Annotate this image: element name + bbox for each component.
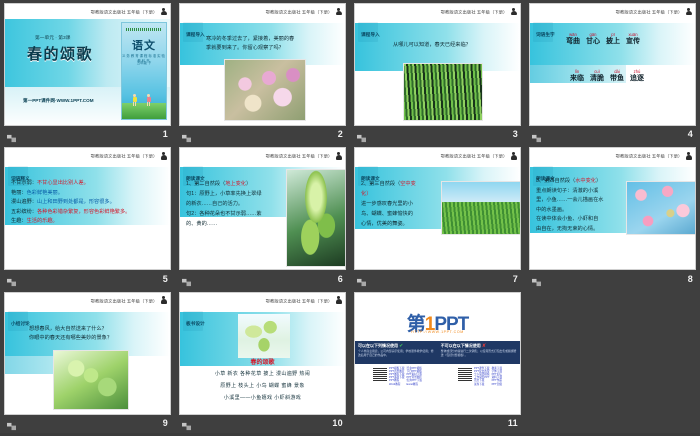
section-tag: 课程导入: [183, 22, 203, 42]
publisher-label: 鄂教版语文出版社 五年级（下册）: [265, 8, 332, 14]
slide-body: 朗读课文 2、第三自然段（空中变 化） 进一步感叹春光里的小 鸟、蝴蝶、蜜蜂愉快…: [355, 163, 520, 269]
term: 漫山遍野：: [11, 199, 37, 205]
text-heading: 1、第二自然段（地上变化）: [186, 179, 286, 189]
definition-row: 不甘示弱：不甘心显出比别人差。: [11, 179, 171, 189]
slide-3[interactable]: 鄂教版语文出版社 五年级（下册） 课程导入 从哪儿可以知道，春天已经来临？: [354, 3, 521, 126]
word-label: 宣传: [626, 37, 640, 46]
slide-text: 3、第四自然段（水中变化） 重点朗读句子：清澈的小溪 里，小鱼……一会儿描画在水…: [536, 177, 628, 234]
publisher-label: 鄂教版语文出版社 五年级（下册）: [265, 297, 332, 303]
slide-cell-11[interactable]: 第1PPT HTTP://WWW.1PPT.COM 可以在以下列情况使用 ✔ 个…: [350, 289, 525, 433]
slide-body: 词语生字 wān 弯曲 gān 甘心 pī 披上 xuān: [530, 19, 695, 125]
link-item[interactable]: 试卷下载: [474, 383, 490, 386]
slide-footer: 10: [179, 415, 346, 431]
slide-8[interactable]: 鄂教版语文出版社 五年级（下册） 朗读课文 3、第四自然段（水中变化） 重点朗读…: [529, 147, 696, 270]
section-tag-label: 板书设计: [186, 321, 205, 328]
slide-grid: 鄂教版语文出版社 五年级（下册） 第一单元 · 第3课 春的颂歌 第一PPT课件…: [0, 0, 700, 433]
links-block: PPT课件下载 PPT论文答辩 个人简历模板 工作总结PPT 范文下载 试卷下载…: [458, 367, 502, 386]
kid-figure-icon: [146, 94, 151, 106]
board-line: 原野上 枝头上 小鸟 蝴蝶 蜜蜂 景象: [180, 382, 345, 389]
text-heading: 2、第三自然段（空中变: [361, 179, 439, 189]
slide-footer: 5: [4, 271, 171, 287]
person-icon: [335, 8, 342, 16]
link-list[interactable]: PPT模板下载 PPT背景图片 PPT图表下载 PPT素材下载 PPT教程 Wo…: [389, 367, 404, 386]
text-line: 由自在，无拘无束的心情。: [536, 225, 628, 235]
heading-pre: 3、第四自然段（: [536, 178, 575, 184]
text-line: 季就要到来了。你留心观察了吗？: [206, 44, 341, 53]
cross-icon: ✘: [482, 343, 486, 349]
butterfly-grass-photo: [441, 181, 521, 235]
brand-url: HTTP://WWW.1PPT.COM: [355, 330, 520, 334]
section-tag: 小组讨论: [8, 311, 28, 331]
text-line: 在读中体会小鱼、小虾和自: [536, 215, 628, 225]
slide-header: 鄂教版语文出版社 五年级（下册）: [5, 4, 170, 19]
qr-code-icon: [458, 367, 472, 381]
slide-cell-6[interactable]: 鄂教版语文出版社 五年级（下册） 朗读课文 1、第二自然段（地上变化） 句1：原…: [175, 144, 350, 288]
pinyin-word-cell: lín 来临: [570, 69, 584, 83]
text-heading: 3、第四自然段（水中变化）: [536, 177, 628, 187]
section-tag-label: 词语生字: [536, 32, 555, 39]
heading-post: 化）: [361, 191, 371, 197]
hand-sprout-photo: [53, 350, 129, 410]
page-number: 5: [163, 274, 168, 284]
slide-thumb-icon: [532, 274, 541, 283]
word-label: 披上: [606, 37, 620, 46]
slide-header: 鄂教版语文出版社 五年级（下册）: [530, 4, 695, 19]
text-line: 句1：原野上，小草率先换上翠绿: [186, 189, 286, 199]
text-line: 里，小鱼……一会儿描画在水: [536, 196, 628, 206]
pinyin-word-cell: dài 带鱼: [610, 69, 624, 83]
pinyin-word-cell: wān 弯曲: [566, 32, 580, 46]
textbook-cover-image: 语文 义务教育课程标准实验教科书 五年级 下: [121, 22, 167, 120]
word-label: 弯曲: [566, 37, 580, 46]
page-number: 4: [688, 129, 693, 139]
disallowed-heading: 不可以在以下情况使用 ✘: [441, 343, 517, 349]
publisher-label: 鄂教版语文出版社 五年级（下册）: [440, 8, 507, 14]
definition: 不甘心显出比别人差。: [37, 180, 89, 186]
link-list[interactable]: 教案下载 字体下载 PPT论坛 资料下载 PPT作品 PPT宝藏: [492, 367, 502, 386]
book-subtitle-2: 五年级 下: [122, 60, 166, 65]
disallowed-usage-column: 不可以在以下情况使用 ✘ 整体或部分内容进行二次销售；以任何形式打包出售或捆绑赠…: [441, 343, 517, 358]
slide-text: 想想春风，给大自然送来了什么？ 你眼中的春天还有哪些美妙的景象？: [29, 325, 169, 343]
slide-thumb-icon: [7, 130, 16, 139]
slide-header: 鄂教版语文出版社 五年级（下册）: [180, 293, 345, 308]
slide-header: 鄂教版语文出版社 五年级（下册）: [180, 148, 345, 163]
definition: 各种色彩错杂繁复，形容色彩鲜艳繁多。: [37, 209, 130, 215]
slide-footer: 6: [179, 271, 346, 287]
person-icon: [335, 296, 342, 304]
person-icon: [160, 8, 167, 16]
slide-text: 1、第二自然段（地上变化） 句1：原野上，小草率先换上翠绿 的新衣……自己的活力…: [186, 179, 286, 229]
text-line: 中的水墨画。: [536, 206, 628, 216]
slide-thumb-icon: [357, 130, 366, 139]
slide-subtitle: 第一单元 · 第3课: [35, 35, 70, 41]
word-label: 清脆: [590, 74, 604, 83]
bud-photo: [286, 169, 346, 267]
allowed-heading: 可以在以下列情况使用 ✔: [358, 343, 434, 349]
slide-7[interactable]: 鄂教版语文出版社 五年级（下册） 朗读课文 2、第三自然段（空中变 化） 进一步…: [354, 147, 521, 270]
slide-cell-7[interactable]: 鄂教版语文出版社 五年级（下册） 朗读课文 2、第三自然段（空中变 化） 进一步…: [350, 144, 525, 288]
slide-cell-2[interactable]: 鄂教版语文出版社 五年级（下册） 课程导入 寒冷的冬季过去了，紧接着，美丽的春 …: [175, 0, 350, 144]
pinyin-word-cell: zhú 追逐: [630, 69, 644, 83]
publisher-label: 鄂教版语文出版社 五年级（下册）: [615, 8, 682, 14]
board-line: 小草 新衣 各种花草 披上 漫山遍野 热闹: [180, 370, 345, 377]
definition-list: 不甘示弱：不甘心显出比别人差。 艳丽：色彩鲜艳美丽。 漫山遍野：山上和田野到处都…: [11, 179, 171, 227]
links-area: PPT模板下载 PPT背景图片 PPT图表下载 PPT素材下载 PPT教程 Wo…: [355, 367, 520, 386]
heading-pre: 1、第二自然段（: [186, 181, 225, 187]
allowed-body: 个人非商业用途，公司内部演示使用；学校课件教学使用；修改后用于自己的作品中。: [358, 350, 434, 357]
term: 生趣：: [11, 218, 27, 224]
definition: 生活的乐趣。: [27, 218, 58, 224]
slide-footer: 3: [354, 126, 521, 142]
term: 不甘示弱：: [11, 180, 37, 186]
sprout-photo: [403, 63, 483, 121]
page-number: 11: [508, 418, 518, 428]
page-number: 8: [688, 274, 693, 284]
term: 五彩缤纷：: [11, 209, 37, 215]
link-item[interactable]: PPT宝藏: [492, 383, 502, 386]
text-line: 的新衣……自己的活力。: [186, 199, 286, 209]
definition-row: 生趣：生活的乐趣。: [11, 217, 171, 227]
publisher-label: 鄂教版语文出版社 五年级（下册）: [440, 153, 507, 159]
disallowed-body: 整体或部分内容进行二次销售；以任何形式打包出售或捆绑赠送（包括付费模板）。: [441, 350, 517, 357]
person-icon: [685, 152, 692, 160]
word-label: 带鱼: [610, 74, 624, 83]
links-block: PPT模板下载 PPT背景图片 PPT图表下载 PPT素材下载 PPT教程 Wo…: [373, 367, 422, 386]
page-number: 10: [332, 418, 343, 428]
person-icon: [685, 8, 692, 16]
slide-thumb-icon: [357, 274, 366, 283]
slide-body: 朗读课文 1、第二自然段（地上变化） 句1：原野上，小草率先换上翠绿 的新衣………: [180, 163, 345, 269]
slide-header: 鄂教版语文出版社 五年级（下册）: [5, 293, 170, 308]
text-line: 进一步感叹春光里的小: [361, 199, 439, 209]
heading-post: ）: [596, 178, 601, 184]
page-number: 2: [338, 129, 343, 139]
slide-cell-1[interactable]: 鄂教版语文出版社 五年级（下册） 第一单元 · 第3课 春的颂歌 第一PPT课件…: [0, 0, 175, 144]
definition: 色彩鲜艳美丽。: [27, 190, 63, 196]
slide-header: 鄂教版语文出版社 五年级（下册）: [530, 148, 695, 163]
section-tag-label: 课程导入: [361, 32, 380, 39]
slide-cell-5[interactable]: 鄂教版语文出版社 五年级（下册） 词语释义 不甘示弱：不甘心显出比别人差。 艳丽…: [0, 144, 175, 288]
text-line: 重点朗读句子：清澈的小溪: [536, 187, 628, 197]
text-line: 的、黄的……: [186, 219, 286, 229]
heading-highlight: 水中变化: [575, 178, 596, 184]
slide-footer: 4: [529, 126, 696, 142]
slide-cell-4[interactable]: 鄂教版语文出版社 五年级（下册） 词语生字 wān 弯曲 gān 甘心: [525, 0, 700, 144]
definition-row: 五彩缤纷：各种色彩错杂繁复，形容色彩鲜艳繁多。: [11, 208, 171, 218]
section-tag: 板书设计: [183, 311, 203, 331]
board-line: 小溪里——小鱼嬉戏 小虾斜游戏: [180, 394, 345, 401]
publisher-label: 鄂教版语文出版社 五年级（下册）: [615, 153, 682, 159]
check-icon: ✔: [399, 343, 403, 349]
book-title: 语文: [122, 37, 166, 53]
site-credit: 第一PPT课件网·WWW.1PPT.COM: [23, 98, 94, 105]
text-line: 心情，优美的舞姿。: [361, 219, 439, 229]
slide-thumb-icon: [182, 274, 191, 283]
slide-6[interactable]: 鄂教版语文出版社 五年级（下册） 朗读课文 1、第二自然段（地上变化） 句1：原…: [179, 147, 346, 270]
slide-thumb-icon: [7, 418, 16, 427]
pinyin-word-cell: cuì 清脆: [590, 69, 604, 83]
slide-thumb-icon: [357, 418, 366, 427]
link-list[interactable]: 行业PPT模板 节日PPT模板 PPT素材下载 PPT背景图片 优秀PPT下载 …: [406, 367, 421, 386]
allowed-usage-column: 可以在以下列情况使用 ✔ 个人非商业用途，公司内部演示使用；学校课件教学使用；修…: [358, 343, 434, 358]
person-icon: [160, 152, 167, 160]
definition: 山上和田野到处都是，形容很多。: [37, 199, 115, 205]
slide-header: 鄂教版语文出版社 五年级（下册）: [5, 148, 170, 163]
slide-text: 从哪儿可以知道，春天已经来临？: [393, 41, 518, 50]
slide-body: 小组讨论 想想春风，给大自然送来了什么？ 你眼中的春天还有哪些美妙的景象？: [5, 308, 170, 414]
book-grass-art: [122, 103, 166, 119]
section-tag-label: 课程导入: [186, 32, 205, 39]
kid-figure-icon: [132, 94, 137, 106]
link-item[interactable]: Word教程: [389, 383, 404, 386]
page-number: 6: [338, 274, 343, 284]
person-icon: [510, 8, 517, 16]
slide-footer: 8: [529, 271, 696, 287]
slide-footer: 9: [4, 415, 171, 431]
slide-header: 鄂教版语文出版社 五年级（下册）: [355, 4, 520, 19]
text-line: 你眼中的春天还有哪些美妙的景象？: [29, 334, 169, 343]
slide-footer: 1: [4, 126, 171, 142]
text-line: 从哪儿可以知道，春天已经来临？: [393, 41, 518, 50]
qr-code-icon: [373, 367, 387, 381]
slide-thumb-icon: [532, 130, 541, 139]
pinyin-word-cell: pī 披上: [606, 32, 620, 46]
person-icon: [160, 296, 167, 304]
definition-row: 漫山遍野：山上和田野到处都是，形容很多。: [11, 198, 171, 208]
slide-body: 板书设计 春的颂歌 小草 新衣 各种花草 披上 漫山遍野 热闹 原野上 枝头上 …: [180, 308, 345, 414]
text-line: 寒冷的冬季过去了，紧接着，美丽的春: [206, 35, 341, 44]
slide-1[interactable]: 鄂教版语文出版社 五年级（下册） 第一单元 · 第3课 春的颂歌 第一PPT课件…: [4, 3, 171, 126]
slide-cell-9[interactable]: 鄂教版语文出版社 五年级（下册） 小组讨论 想想春风，给大自然送来了什么？ 你眼…: [0, 289, 175, 433]
definition-row: 艳丽：色彩鲜艳美丽。: [11, 189, 171, 199]
slide-thumb-icon: [7, 274, 16, 283]
slide-body: 课程导入 寒冷的冬季过去了，紧接着，美丽的春 季就要到来了。你留心观察了吗？: [180, 19, 345, 125]
page-number: 1: [163, 129, 168, 139]
slide-cell-empty: [525, 289, 700, 433]
slide-text: 2、第三自然段（空中变 化） 进一步感叹春光里的小 鸟、蝴蝶、蜜蜂愉快的 心情，…: [361, 179, 439, 229]
page-number: 9: [163, 418, 168, 428]
branch-leaves-photo: [238, 314, 290, 358]
term: 艳丽：: [11, 190, 27, 196]
text-line: 句2：各种花朵也不甘示弱……紫: [186, 209, 286, 219]
slide-header: 鄂教版语文出版社 五年级（下册）: [355, 148, 520, 163]
text-heading-cont: 化）: [361, 189, 439, 199]
pinyin-word-cell: gān 甘心: [586, 32, 600, 46]
text-line: 鸟、蝴蝶、蜜蜂愉快的: [361, 209, 439, 219]
page-number: 7: [513, 274, 518, 284]
slide-5[interactable]: 鄂教版语文出版社 五年级（下册） 词语释义 不甘示弱：不甘心显出比别人差。 艳丽…: [4, 147, 171, 270]
slide-body: 词语释义 不甘示弱：不甘心显出比别人差。 艳丽：色彩鲜艳美丽。 漫山遍野：山上和…: [5, 163, 170, 269]
link-item[interactable]: Excel教程: [406, 383, 421, 386]
word-label: 来临: [570, 74, 584, 83]
slide-4[interactable]: 鄂教版语文出版社 五年级（下册） 词语生字 wān 弯曲 gān 甘心: [529, 3, 696, 126]
slide-footer: 11: [354, 415, 521, 431]
slide-cell-10[interactable]: 鄂教版语文出版社 五年级（下册） 板书设计 春的颂歌 小草 新衣 各种花草 披上…: [175, 289, 350, 433]
text-line: 想想春风，给大自然送来了什么？: [29, 325, 169, 334]
pinyin-word-cell: xuān 宣传: [626, 32, 640, 46]
slide-thumb-icon: [182, 130, 191, 139]
heading-pre: 2、第三自然段（: [361, 181, 400, 187]
publisher-label: 鄂教版语文出版社 五年级（下册）: [90, 297, 157, 303]
slide-cell-8[interactable]: 鄂教版语文出版社 五年级（下册） 朗读课文 3、第四自然段（水中变化） 重点朗读…: [525, 144, 700, 288]
publisher-label: 鄂教版语文出版社 五年级（下册）: [90, 8, 157, 14]
slide-body: 朗读课文 3、第四自然段（水中变化） 重点朗读句子：清澈的小溪 里，小鱼……一会…: [530, 163, 695, 269]
slide-header: 鄂教版语文出版社 五年级（下册）: [180, 4, 345, 19]
slide-9[interactable]: 鄂教版语文出版社 五年级（下册） 小组讨论 想想春风，给大自然送来了什么？ 你眼…: [4, 292, 171, 415]
slide-cell-3[interactable]: 鄂教版语文出版社 五年级（下册） 课程导入 从哪儿可以知道，春天已经来临？ 3: [350, 0, 525, 144]
person-icon: [335, 152, 342, 160]
link-list[interactable]: PPT课件下载 PPT论文答辩 个人简历模板 工作总结PPT 范文下载 试卷下载: [474, 367, 490, 386]
section-tag: 词语生字: [533, 22, 553, 42]
heading-post: ）: [246, 181, 251, 187]
slide-text: 寒冷的冬季过去了，紧接着，美丽的春 季就要到来了。你留心观察了吗？: [206, 35, 341, 53]
slide-10[interactable]: 鄂教版语文出版社 五年级（下册） 板书设计 春的颂歌 小草 新衣 各种花草 披上…: [179, 292, 346, 415]
slide-footer: 7: [354, 271, 521, 287]
page-title: 春的颂歌: [27, 43, 93, 64]
pinyin-row-1: wān 弯曲 gān 甘心 pī 披上 xuān 宣传: [566, 32, 640, 46]
slide-body: 课程导入 从哪儿可以知道，春天已经来临？: [355, 19, 520, 125]
section-tag-label: 小组讨论: [11, 321, 30, 328]
person-icon: [510, 152, 517, 160]
word-label: 追逐: [630, 74, 644, 83]
slide-body: 第1PPT HTTP://WWW.1PPT.COM 可以在以下列情况使用 ✔ 个…: [355, 293, 520, 414]
slide-body: 第一单元 · 第3课 春的颂歌 第一PPT课件网·WWW.1PPT.COM 语文…: [5, 19, 170, 125]
blossom-bird-photo: [626, 181, 696, 235]
section-tag: 课程导入: [358, 22, 378, 42]
board-title: 春的颂歌: [180, 357, 345, 366]
slide-11[interactable]: 第1PPT HTTP://WWW.1PPT.COM 可以在以下列情况使用 ✔ 个…: [354, 292, 521, 415]
orchid-photo: [224, 59, 306, 121]
slide-2[interactable]: 鄂教版语文出版社 五年级（下册） 课程导入 寒冷的冬季过去了，紧接着，美丽的春 …: [179, 3, 346, 126]
word-label: 甘心: [586, 37, 600, 46]
slide-footer: 2: [179, 126, 346, 142]
heading-highlight: 空中变: [400, 181, 416, 187]
publisher-label: 鄂教版语文出版社 五年级（下册）: [265, 153, 332, 159]
heading-highlight: 地上变化: [225, 181, 246, 187]
page-number: 3: [513, 129, 518, 139]
book-header-rule: [126, 28, 162, 31]
pinyin-row-2: lín 来临 cuì 清脆 dài 带鱼 zhú 追逐: [570, 69, 644, 83]
publisher-label: 鄂教版语文出版社 五年级（下册）: [90, 153, 157, 159]
slide-thumb-icon: [182, 418, 191, 427]
